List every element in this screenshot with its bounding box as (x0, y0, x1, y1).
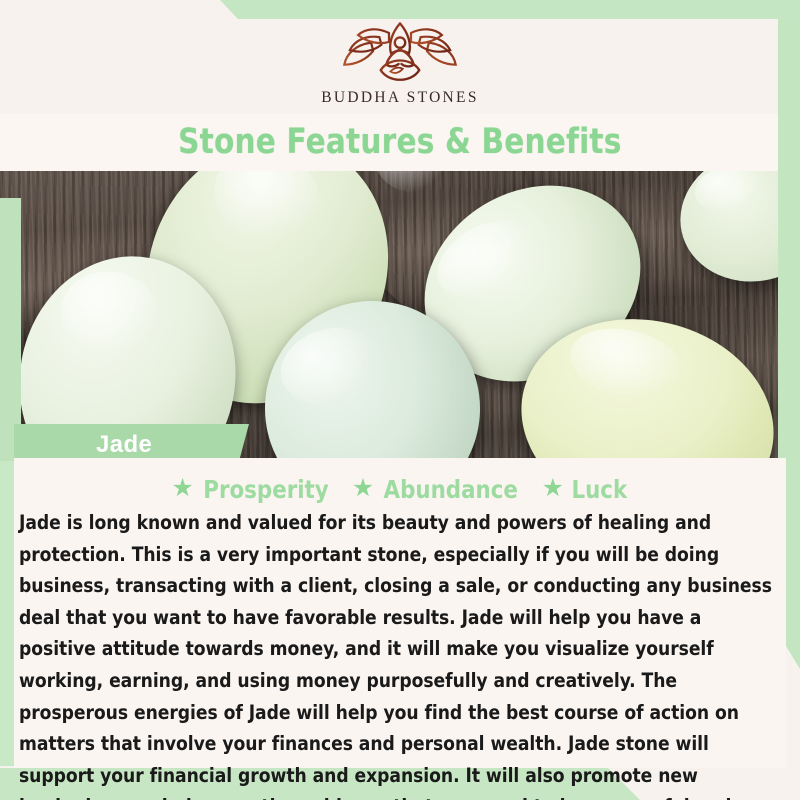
benefits-row: ★ Prosperity ★ Abundance ★ Luck (14, 477, 786, 502)
stone-description: Jade is long known and valued for its be… (19, 507, 774, 800)
content-card: ★ Prosperity ★ Abundance ★ Luck Jade is … (14, 458, 786, 768)
brand-logo: BUDDHA STONES (0, 22, 800, 114)
benefit-label: Luck (571, 477, 627, 502)
benefit-item: ★ Prosperity (171, 477, 331, 502)
decorative-frame-top (0, 0, 800, 19)
decorative-frame-left-lower (0, 461, 14, 766)
star-icon: ★ (352, 476, 374, 501)
page-title: Stone Features & Benefits (178, 125, 621, 160)
infographic-canvas: BUDDHA STONES Stone Features & Benefits … (0, 0, 800, 800)
star-icon: ★ (542, 476, 564, 501)
lotus-meditation-icon (331, 22, 469, 88)
jade-stones-photo (0, 171, 800, 458)
stone-name: Jade (96, 431, 152, 459)
benefit-label: Abundance (384, 477, 518, 502)
benefit-label: Prosperity (203, 477, 328, 502)
benefit-item: ★ Luck (542, 477, 629, 502)
title-banner: Stone Features & Benefits (0, 114, 800, 171)
benefit-item: ★ Abundance (352, 477, 522, 502)
star-icon: ★ (171, 476, 193, 501)
brand-name: BUDDHA STONES (321, 89, 479, 107)
